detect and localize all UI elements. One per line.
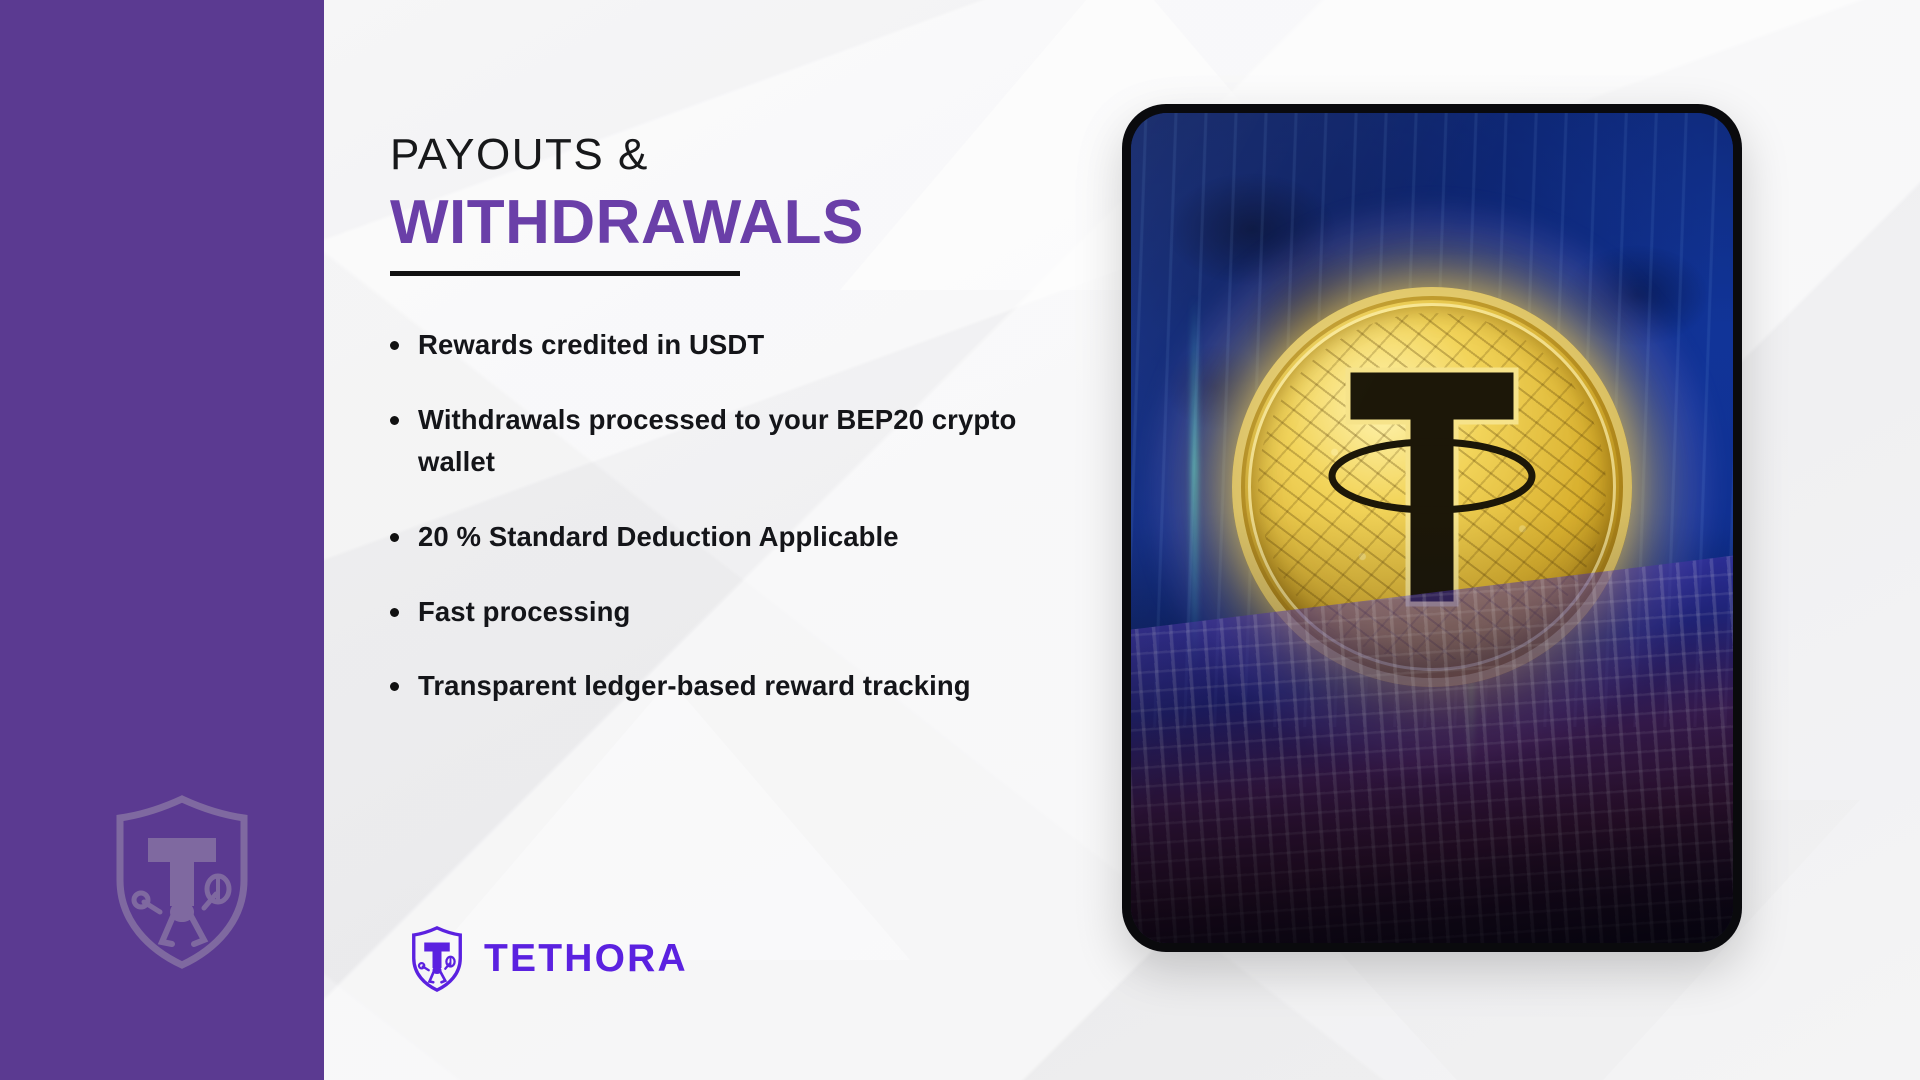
tether-usdt-coin-image: [1131, 113, 1733, 943]
bullet-dot-icon: [390, 341, 399, 350]
brand-lockup: TETHORA: [410, 926, 688, 992]
brand-name: TETHORA: [484, 937, 688, 981]
list-item: Transparent ledger-based reward tracking: [390, 665, 1030, 707]
left-sidebar: [0, 0, 324, 1080]
list-item: Rewards credited in USDT: [390, 324, 1030, 366]
list-item: 20 % Standard Deduction Applicable: [390, 516, 1030, 558]
list-item-label: Fast processing: [418, 591, 630, 633]
list-item-label: Transparent ledger-based reward tracking: [418, 665, 971, 707]
tethora-shield-watermark-icon: [112, 794, 252, 970]
media-card: [1122, 104, 1742, 952]
list-item-label: Rewards credited in USDT: [418, 324, 764, 366]
title-kicker: PAYOUTS &: [390, 133, 1110, 177]
scene-grid-fade: [1131, 511, 1733, 943]
tethora-shield-icon: [410, 926, 464, 992]
list-item: Withdrawals processed to your BEP20 cryp…: [390, 399, 1030, 483]
bullet-dot-icon: [390, 533, 399, 542]
title-underline: [390, 271, 740, 276]
page-title: WITHDRAWALS: [390, 191, 1110, 255]
content-column: PAYOUTS & WITHDRAWALS Rewards credited i…: [390, 0, 1110, 1080]
bullet-dot-icon: [390, 608, 399, 617]
bullet-list: Rewards credited in USDT Withdrawals pro…: [390, 324, 1110, 707]
bullet-dot-icon: [390, 416, 399, 425]
slide-root: PAYOUTS & WITHDRAWALS Rewards credited i…: [0, 0, 1920, 1080]
list-item-label: Withdrawals processed to your BEP20 cryp…: [418, 399, 1030, 483]
bullet-dot-icon: [390, 682, 399, 691]
list-item: Fast processing: [390, 591, 1030, 633]
list-item-label: 20 % Standard Deduction Applicable: [418, 516, 899, 558]
